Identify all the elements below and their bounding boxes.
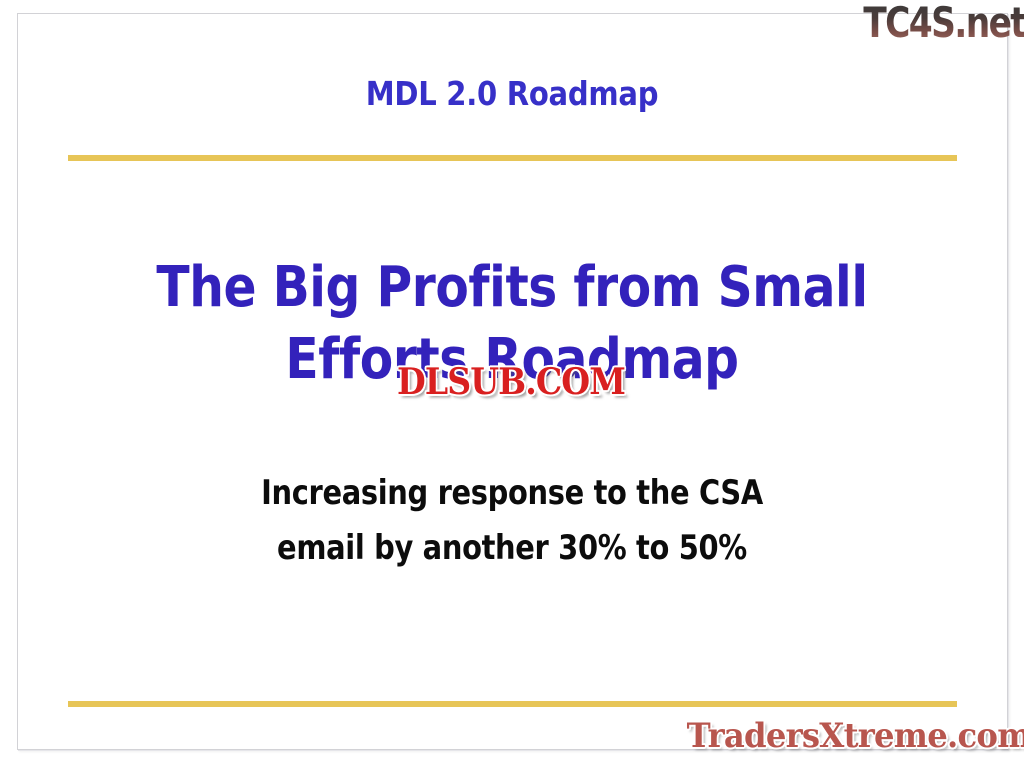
divider-rule-top bbox=[68, 155, 957, 161]
watermark-dlsub-logo: DLSUB.COM bbox=[383, 362, 639, 402]
watermark-tc4s-logo: TC4S.net bbox=[863, 0, 1024, 48]
presentation-slide: MDL 2.0 Roadmap The Big Profits from Sma… bbox=[0, 0, 1024, 768]
divider-rule-bottom bbox=[68, 701, 957, 707]
subtitle-line-2: email by another 30% to 50% bbox=[77, 521, 947, 576]
watermark-tradersxtreme-logo: TradersXtreme.com bbox=[687, 716, 1016, 756]
page-title: MDL 2.0 Roadmap bbox=[61, 74, 962, 113]
main-title-line-1: The Big Profits from Small bbox=[67, 252, 958, 324]
subtitle-block: Increasing response to the CSA email by … bbox=[0, 466, 1024, 576]
subtitle-line-1: Increasing response to the CSA bbox=[77, 466, 947, 521]
